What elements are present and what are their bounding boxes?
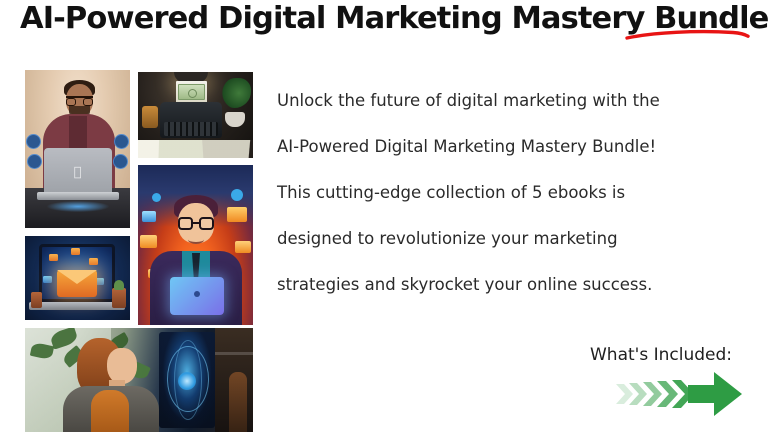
hologram-display [159, 332, 215, 428]
collage-image-man-with-laptop:  [25, 70, 130, 228]
whats-included-label: What's Included: [566, 345, 756, 365]
description-line-4: designed to revolutionize your marketing [277, 216, 747, 262]
green-arrow-icon [616, 370, 742, 418]
page-title: AI-Powered Digital Marketing Mastery Bun… [20, 2, 768, 36]
description-line-5: strategies and skyrocket your online suc… [277, 262, 747, 308]
description-line-1: Unlock the future of digital marketing w… [277, 78, 747, 124]
collage-image-email-marketing-laptop [25, 236, 130, 320]
title-block: AI-Powered Digital Marketing Mastery Bun… [20, 0, 749, 48]
envelope-icon [235, 241, 251, 253]
collage-image-ai-marketer-illustration [138, 165, 253, 325]
description-line-2: AI-Powered Digital Marketing Mastery Bun… [277, 124, 747, 170]
envelope-icon [140, 235, 157, 248]
envelope-icon [57, 270, 97, 297]
apple-logo-icon:  [72, 166, 84, 179]
envelope-icon [227, 207, 247, 222]
whats-included-block: What's Included: [540, 340, 750, 430]
description-paragraph: Unlock the future of digital marketing w… [277, 78, 747, 308]
image-collage:  [25, 70, 253, 432]
description-line-3: This cutting-edge collection of 5 ebooks… [277, 170, 747, 216]
collage-image-vintage-typewriter-money [138, 72, 253, 158]
collage-image-woman-with-hologram [25, 328, 253, 432]
